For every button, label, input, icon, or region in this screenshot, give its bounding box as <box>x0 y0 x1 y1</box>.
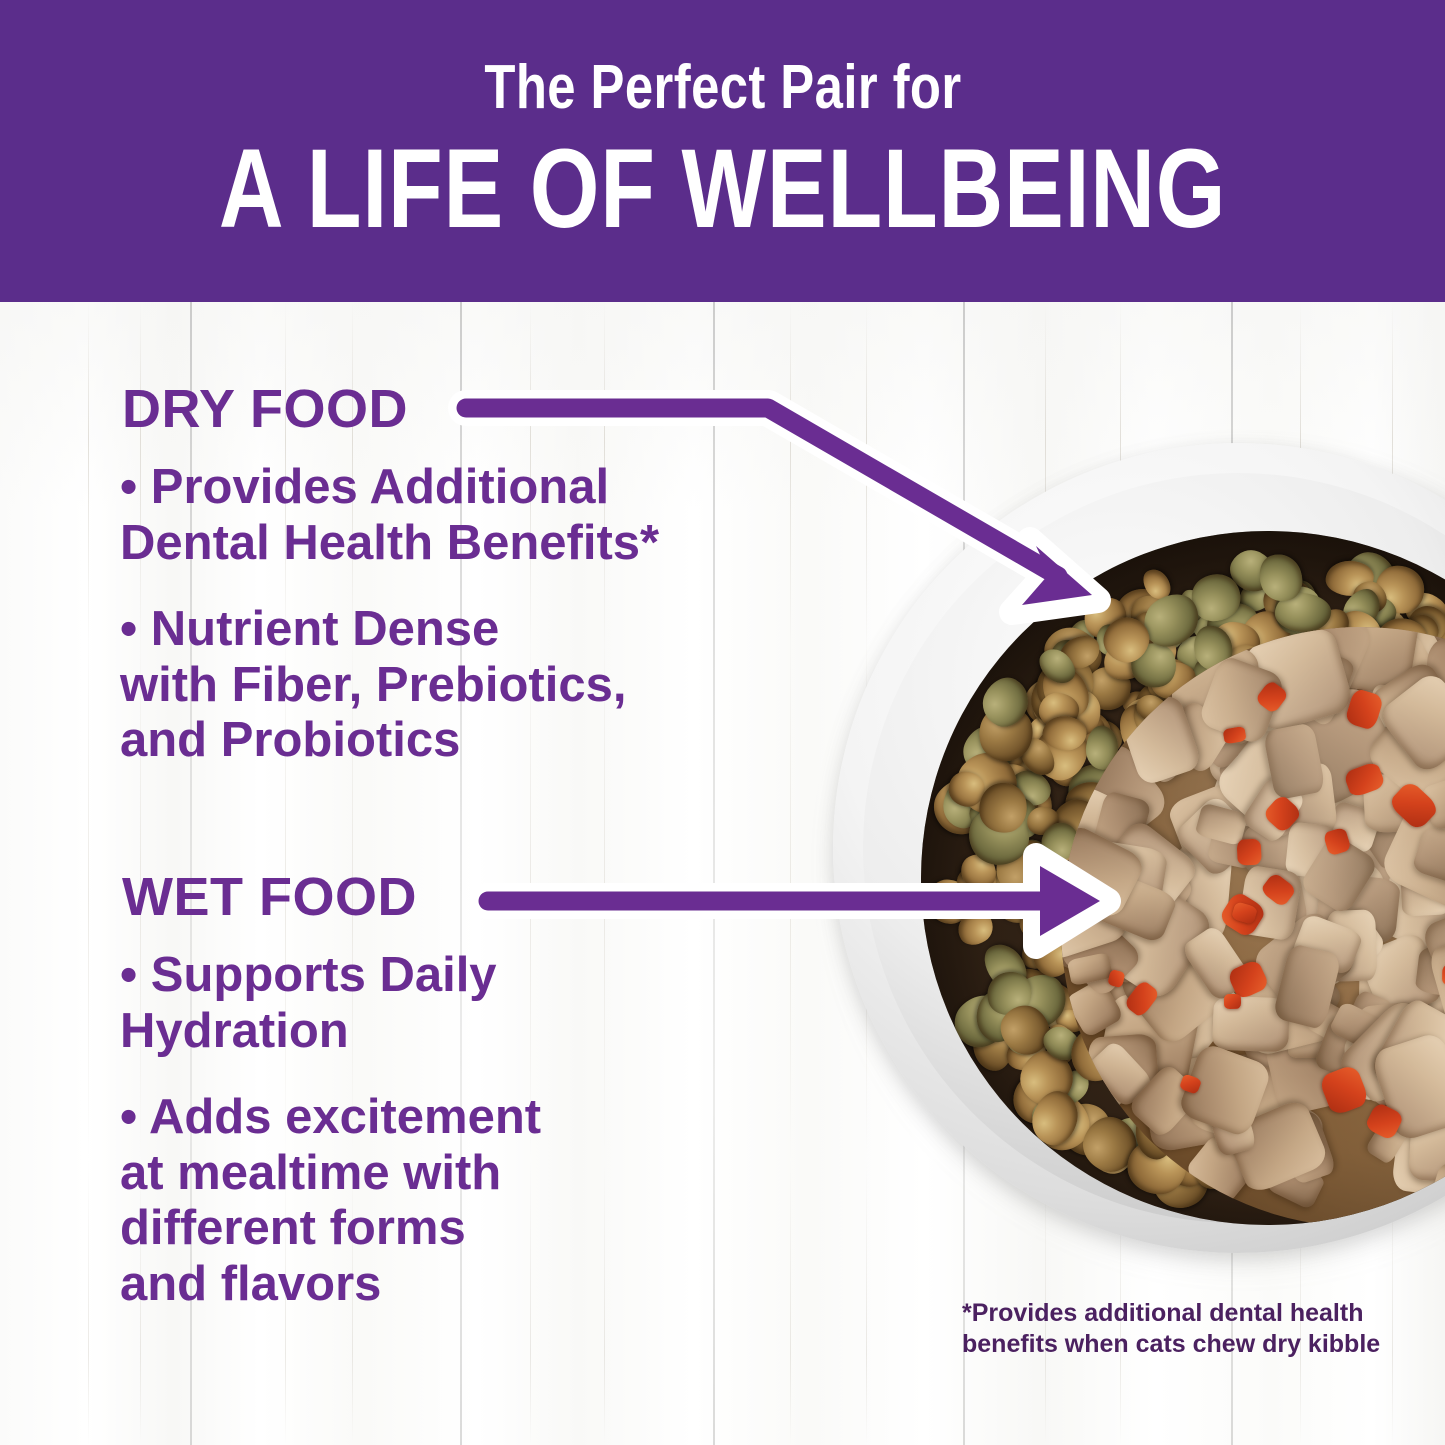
bowl-photo <box>833 443 1445 1263</box>
bullet-glyph: • <box>120 602 137 656</box>
bowl-interior <box>921 531 1445 1225</box>
tomato-piece <box>1224 994 1241 1010</box>
footnote-dental-health: *Provides additional dental health benef… <box>962 1298 1382 1360</box>
bullet-list-dry-food: • Provides Additional Dental Health Bene… <box>120 460 760 799</box>
header-subtitle: The Perfect Pair for <box>484 57 961 119</box>
list-item-label: Provides Additional Dental Health Benefi… <box>120 460 659 570</box>
list-item-label: Supports Daily Hydration <box>120 948 497 1058</box>
list-item: • Adds excitement at mealtime with diffe… <box>120 1090 760 1313</box>
tomato-piece <box>1237 838 1263 865</box>
header-banner: The Perfect Pair for A LIFE OF WELLBEING <box>0 0 1445 302</box>
bowl-inner-rim <box>863 473 1445 1223</box>
bullet-list-wet-food: • Supports Daily Hydration • Adds excite… <box>120 948 760 1343</box>
list-item-label: Adds excitement at mealtime with differe… <box>120 1090 541 1312</box>
section-title-dry-food: DRY FOOD <box>122 378 408 440</box>
bullet-glyph: • <box>120 948 137 1002</box>
bowl-outer-rim <box>833 443 1445 1253</box>
section-title-wet-food: WET FOOD <box>122 866 417 928</box>
bullet-glyph: • <box>120 1090 137 1144</box>
list-item: • Provides Additional Dental Health Bene… <box>120 460 760 572</box>
list-item: • Nutrient Dense with Fiber, Prebiotics,… <box>120 602 760 770</box>
header-title: A LIFE OF WELLBEING <box>219 133 1226 245</box>
list-item-label: Nutrient Dense with Fiber, Prebiotics, a… <box>120 602 626 768</box>
promo-infographic: The Perfect Pair for A LIFE OF WELLBEING <box>0 0 1445 1445</box>
bullet-glyph: • <box>120 460 137 514</box>
list-item: • Supports Daily Hydration <box>120 948 760 1060</box>
